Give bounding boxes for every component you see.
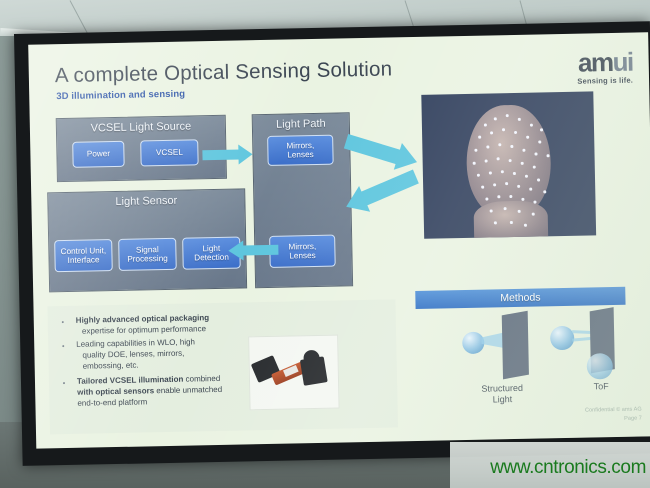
projected-slide-photo: A complete Optical Sensing Solution 3D i… <box>0 0 650 488</box>
module-product-image <box>248 335 339 411</box>
footer-page: Page 7 <box>585 414 642 424</box>
logo-wordmark: amui <box>577 49 633 76</box>
slide-surface: A complete Optical Sensing Solution 3D i… <box>28 32 650 448</box>
methods-banner-label: Methods <box>500 291 541 304</box>
box-control-unit-line2: Interface <box>68 255 100 265</box>
box-mirrors-lenses-rx-line1: Mirrors, <box>288 242 316 252</box>
block-header-light-sensor: Light Sensor <box>48 193 244 209</box>
box-control-unit-interface: Control Unit, Interface <box>54 239 113 272</box>
block-header-light-path: Light Path <box>253 117 349 131</box>
bullet-2-line3: embossing, etc. <box>83 361 139 372</box>
block-header-vcsel: VCSEL Light Source <box>57 120 225 135</box>
box-vcsel-label: VCSEL <box>156 148 183 158</box>
bullet-marker <box>62 345 64 347</box>
face-dot-projection-image <box>421 91 596 238</box>
box-mirrors-lenses-tx: Mirrors, Lenses <box>267 135 334 166</box>
methods-banner: Methods <box>415 287 625 309</box>
bullet-3-bold1: Tailored VCSEL illumination <box>77 375 184 386</box>
bullet-3-rest2: enable unmatched <box>154 385 222 395</box>
box-vcsel: VCSEL <box>140 139 199 166</box>
tof-label: ToF <box>569 381 633 394</box>
ams-logo: amui Sensing is life. <box>577 49 633 86</box>
bullet-2-line2: quality DOE, lenses, mirrors, <box>82 349 184 361</box>
box-light-detection-line2: Detection <box>194 253 229 263</box>
tof-source-icon <box>550 326 574 350</box>
box-signal-processing-line1: Signal <box>136 245 159 255</box>
structured-light-source-icon <box>462 332 484 354</box>
logo-text-ui: ui <box>612 47 633 77</box>
bullet-marker <box>62 321 64 323</box>
page-subtitle: 3D illumination and sensing <box>56 89 185 103</box>
box-signal-processing-line2: Processing <box>127 254 168 264</box>
box-mirrors-lenses-rx: Mirrors, Lenses <box>269 235 336 268</box>
structured-light-label-line2: Light <box>465 394 539 407</box>
logo-tagline: Sensing is life. <box>577 76 633 86</box>
box-mirrors-lenses-rx-line2: Lenses <box>289 251 316 261</box>
page-title: A complete Optical Sensing Solution <box>55 57 393 88</box>
logo-text-ams: am <box>578 47 613 78</box>
structured-light-panel-icon <box>502 311 529 380</box>
box-mirrors-lenses-tx-line2: Lenses <box>287 150 314 160</box>
box-signal-processing: Signal Processing <box>118 238 177 271</box>
bullet-marker <box>63 382 65 384</box>
box-power: Power <box>72 141 125 168</box>
bullet-3-rest1: combined <box>183 374 220 384</box>
box-mirrors-lenses-tx-line1: Mirrors, <box>286 141 314 151</box>
bullet-3-bold2: with optical sensors <box>77 386 154 397</box>
box-light-detection-line1: Light <box>202 243 220 253</box>
projection-screen-bezel: A complete Optical Sensing Solution 3D i… <box>14 21 650 466</box>
tof-clock-icon <box>587 353 614 380</box>
tof-label-line1: ToF <box>569 381 633 394</box>
slide-footer: Confidential © ams AG Page 7 <box>585 406 642 424</box>
site-watermark: www.cntronics.com <box>490 457 646 479</box>
bullet-3-line3: end-to-end platform <box>77 397 147 409</box>
box-power-label: Power <box>87 149 110 159</box>
structured-light-label: Structured Light <box>465 383 539 407</box>
